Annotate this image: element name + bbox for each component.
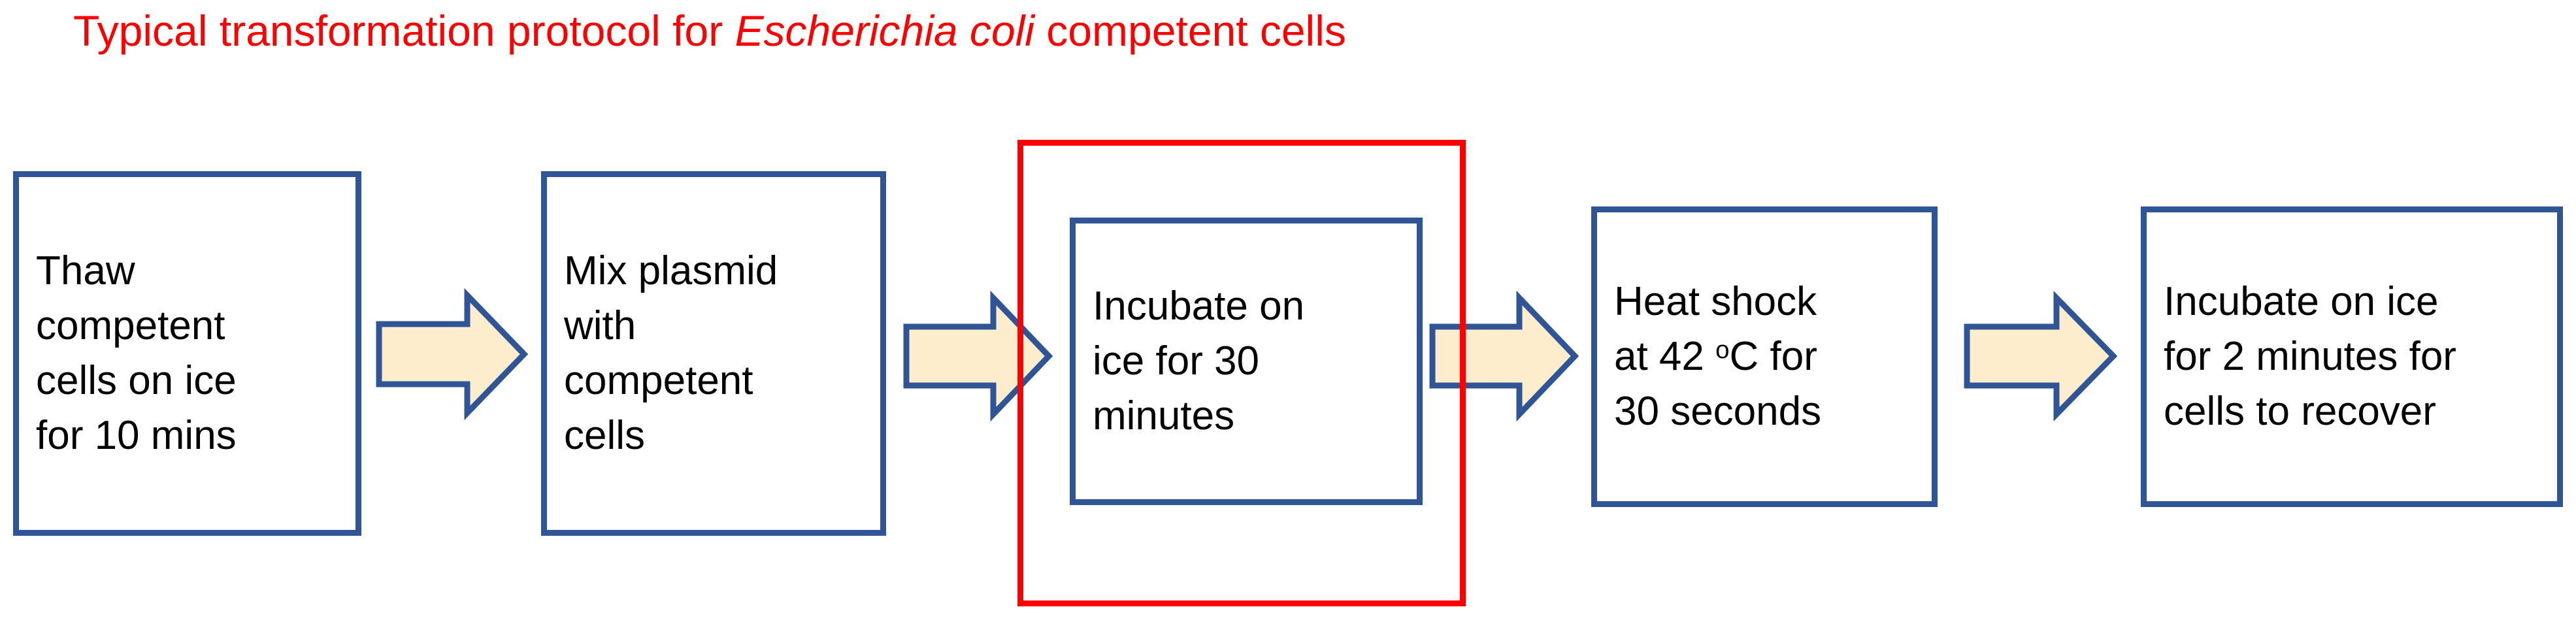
degree-symbol: o	[1715, 336, 1729, 364]
step-box-heat-shock[interactable]: Heat shock at 42 oC for 30 seconds	[1591, 206, 1938, 507]
step-text-line: Thaw	[36, 244, 349, 299]
step-text-line: for 10 mins	[36, 408, 349, 463]
step-text-line: competent	[36, 299, 349, 353]
step-text-line: Heat shock	[1614, 274, 1925, 329]
arrow-thaw-to-mix	[376, 291, 527, 417]
step-text-line: Incubate on ice	[2164, 274, 2551, 329]
right-arrow-icon	[1964, 294, 2117, 418]
step-text-line: 30 seconds	[1614, 384, 1925, 439]
step-text-line: cells	[564, 408, 874, 463]
step-text-line: ice for 30	[1093, 334, 1410, 389]
step-text-line: for 2 minutes for	[2164, 329, 2551, 384]
step-box-mix-plasmid[interactable]: Mix plasmid with competent cells	[541, 171, 886, 536]
step-text-line: minutes	[1093, 389, 1410, 444]
step-text-line: competent	[564, 353, 874, 408]
slide-canvas: Typical transformation protocol for Esch…	[0, 0, 2576, 624]
heat-shock-temp-suffix: C for	[1730, 334, 1817, 379]
step-label-incubate-on-ice-2-minutes: Incubate on ice for 2 minutes for cells …	[2164, 274, 2551, 439]
arrow-heatshock-to-recover	[1964, 294, 2117, 418]
step-text-line: cells to recover	[2164, 384, 2551, 439]
title-prefix: Typical transformation protocol for	[73, 7, 735, 55]
step-text-line: cells on ice	[36, 353, 349, 408]
step-box-incubate-on-ice-2-minutes[interactable]: Incubate on ice for 2 minutes for cells …	[2141, 206, 2563, 507]
step-box-thaw-competent-cells[interactable]: Thaw competent cells on ice for 10 mins	[13, 171, 361, 536]
step-label-heat-shock: Heat shock at 42 oC for 30 seconds	[1614, 274, 1925, 439]
page-title: Typical transformation protocol for Esch…	[73, 5, 1346, 56]
step-label-incubate-on-ice-30-minutes: Incubate on ice for 30 minutes	[1093, 279, 1410, 444]
step-label-mix-plasmid: Mix plasmid with competent cells	[564, 244, 874, 463]
step-text-line: Incubate on	[1093, 279, 1410, 334]
right-arrow-icon	[376, 291, 527, 417]
step-text-line: Mix plasmid	[564, 244, 874, 299]
step-text-line-degree: at 42 oC for	[1614, 329, 1925, 384]
step-label-thaw-competent-cells: Thaw competent cells on ice for 10 mins	[36, 244, 349, 463]
title-species-italic: Escherichia coli	[735, 7, 1034, 55]
heat-shock-temp-prefix: at 42	[1614, 334, 1715, 379]
step-box-incubate-on-ice-30-minutes[interactable]: Incubate on ice for 30 minutes	[1070, 218, 1423, 505]
title-suffix: competent cells	[1034, 7, 1346, 55]
step-text-line: with	[564, 299, 874, 353]
